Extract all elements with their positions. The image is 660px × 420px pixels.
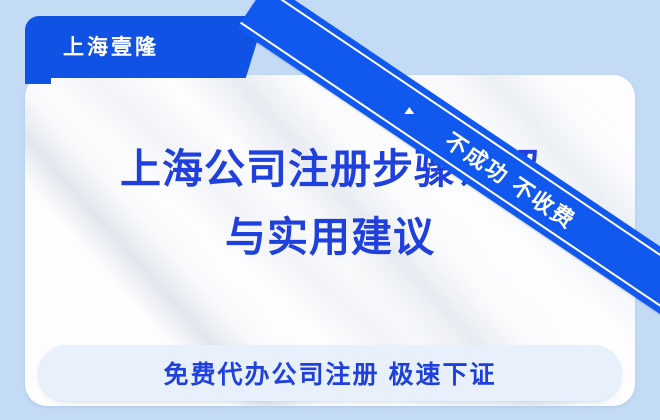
cta-label: 免费代办公司注册 极速下证: [164, 355, 497, 391]
brand-tab[interactable]: [25, 16, 265, 78]
promo-poster: 上海壹隆 上海公司注册步骤详解 与实用建议 免费代办公司注册 极速下证 不成功 …: [0, 0, 660, 420]
triangle-up-icon: [404, 107, 414, 114]
cta-banner[interactable]: 免费代办公司注册 极速下证: [38, 345, 622, 401]
